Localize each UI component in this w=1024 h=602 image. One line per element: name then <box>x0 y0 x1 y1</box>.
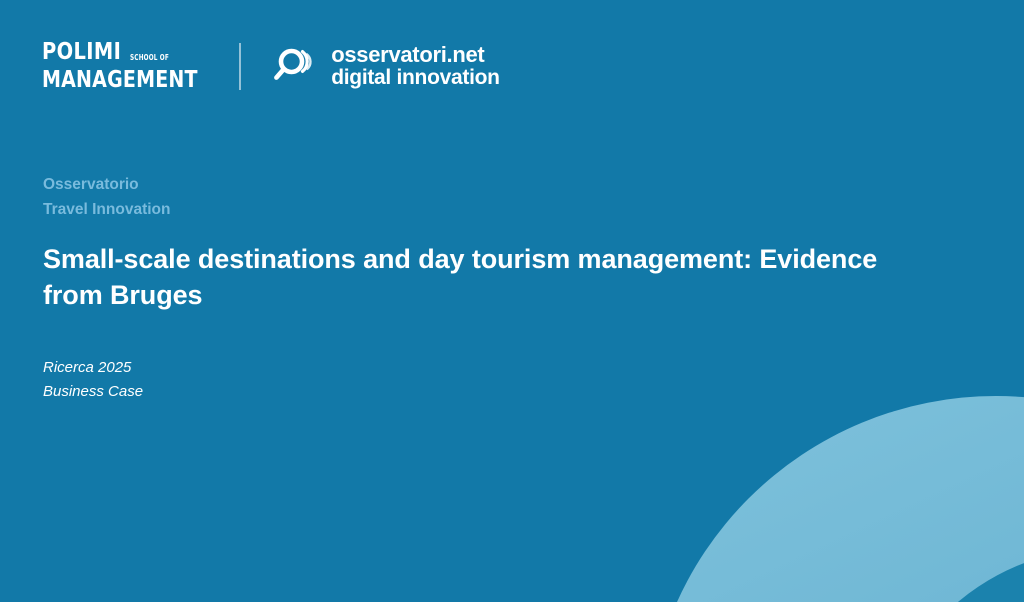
slide-content: Osservatorio Travel Innovation Small-sca… <box>43 172 943 405</box>
page-title: Small-scale destinations and day tourism… <box>43 242 933 314</box>
polimi-wordmark: POLIMI <box>42 41 121 64</box>
polimi-logo: POLIMI SCHOOL OF MANAGEMENT <box>42 41 211 92</box>
research-note-line1: Ricerca 2025 <box>43 356 943 380</box>
observatory-label-line2: Travel Innovation <box>43 197 943 222</box>
logo-divider <box>239 43 241 90</box>
polimi-management-label: MANAGEMENT <box>42 69 198 92</box>
osservatori-tagline: digital innovation <box>331 67 499 88</box>
research-note: Ricerca 2025 Business Case <box>43 356 943 405</box>
polimi-logo-top-row: POLIMI SCHOOL OF <box>42 41 211 64</box>
title-slide: POLIMI SCHOOL OF MANAGEMENT osservatori.… <box>0 0 1024 602</box>
decorative-circle-light <box>646 396 1024 602</box>
magnifier-icon <box>271 43 317 89</box>
polimi-school-of-label: SCHOOL OF <box>130 54 169 64</box>
decorative-circle-dark <box>876 548 1024 602</box>
logo-bar: POLIMI SCHOOL OF MANAGEMENT osservatori.… <box>42 38 500 94</box>
research-note-line2: Business Case <box>43 380 943 404</box>
osservatori-wordmark: osservatori.net digital innovation <box>331 44 499 88</box>
osservatori-name: osservatori.net <box>331 44 499 66</box>
osservatori-logo: osservatori.net digital innovation <box>271 43 499 89</box>
observatory-label: Osservatorio Travel Innovation <box>43 172 943 222</box>
observatory-label-line1: Osservatorio <box>43 172 943 197</box>
